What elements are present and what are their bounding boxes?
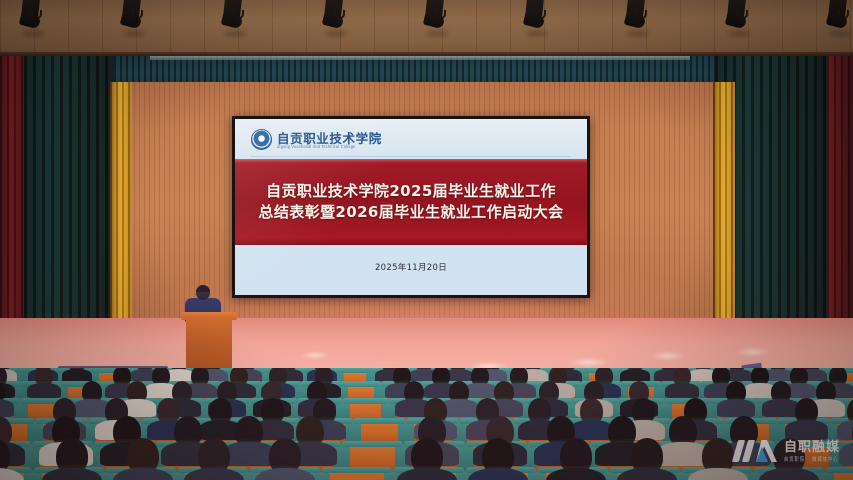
watermark-text: 自职融媒 自贡职院 · 融媒体中心 xyxy=(784,441,840,461)
audience-member xyxy=(449,381,469,403)
audience-member xyxy=(510,368,528,386)
audience-member xyxy=(191,368,209,386)
stage-light-fixture xyxy=(825,0,851,30)
audience-member xyxy=(296,416,324,447)
audience-member xyxy=(174,416,202,447)
header-divider xyxy=(251,156,571,157)
audience-member xyxy=(790,368,808,386)
curtain-rail xyxy=(150,56,690,60)
seat-headrail xyxy=(336,368,374,373)
stage-light-fixture xyxy=(623,0,649,30)
seat-headrail xyxy=(322,467,392,473)
audience-member xyxy=(35,368,53,386)
school-name-en: Zigong Vocational And Technical College xyxy=(277,144,356,149)
audience-member xyxy=(816,381,836,403)
audience-member xyxy=(795,398,818,424)
auditorium-photo: 自贡职业技术学院 Zigong Vocational And Technical… xyxy=(0,0,853,480)
floor-light-pool xyxy=(736,348,770,356)
audience-member xyxy=(702,438,734,474)
lamp-shadow xyxy=(325,30,347,37)
audience-member xyxy=(127,381,147,403)
audience-member xyxy=(157,398,180,424)
school-crest-icon xyxy=(251,129,272,150)
audience-member-shoulders xyxy=(0,399,14,416)
audience-member xyxy=(751,368,769,386)
watermark-logo-icon xyxy=(735,438,777,464)
audience-member xyxy=(729,368,745,372)
audience-member xyxy=(528,398,551,424)
led-screen-frame: 自贡职业技术学院 Zigong Vocational And Technical… xyxy=(232,116,590,298)
audience-member xyxy=(416,368,432,372)
slide-title-line-1: 自贡职业技术学院2025届毕业生就业工作 xyxy=(266,183,556,200)
broadcaster-watermark: 自职融媒 自贡职院 · 融媒体中心 xyxy=(735,436,840,466)
speaker-hair xyxy=(196,285,210,292)
stage-light-fixture xyxy=(522,0,548,30)
floor-light-pool xyxy=(300,352,330,359)
stage-light-fixture xyxy=(18,0,44,30)
slide-title-line-2: 总结表彰暨2026届毕业生就业工作启动大会 xyxy=(258,204,563,221)
audience-member xyxy=(137,368,153,372)
floor-light-pool xyxy=(568,358,610,367)
audience-member xyxy=(404,381,424,403)
audience-member xyxy=(771,381,791,403)
led-screen: 自贡职业技术学院 Zigong Vocational And Technical… xyxy=(235,119,587,295)
audience-member xyxy=(127,438,159,474)
audience-seating xyxy=(0,368,853,480)
audience-member xyxy=(632,398,655,424)
audience-member xyxy=(608,416,636,447)
lamp-shadow xyxy=(123,30,145,37)
watermark-subtitle: 自贡职院 · 融媒体中心 xyxy=(784,457,840,462)
audience-member xyxy=(235,416,263,447)
audience-member xyxy=(269,438,301,474)
stage-light-fixture xyxy=(724,0,750,30)
lamp-shadow xyxy=(728,30,750,37)
seat-headrail xyxy=(340,381,382,387)
slide-date: 2025年11月20日 xyxy=(235,261,587,273)
slide-title-banner: 自贡职业技术学院2025届毕业生就业工作 总结表彰暨2026届毕业生就业工作启动… xyxy=(235,159,587,245)
speaker-podium xyxy=(186,316,232,376)
seat-headrail xyxy=(342,441,403,447)
audience-member xyxy=(152,368,170,386)
audience-member xyxy=(471,368,489,386)
audience-member xyxy=(261,398,284,424)
lamp-shadow xyxy=(426,30,448,37)
audience-member xyxy=(113,368,131,386)
lamp-shadow xyxy=(829,30,851,37)
audience-member-shoulders xyxy=(717,399,755,416)
audience-member xyxy=(560,438,592,474)
audience-member xyxy=(198,438,230,474)
watermark-title: 自职融媒 xyxy=(784,441,840,454)
audience-member xyxy=(627,368,643,372)
audience-member xyxy=(494,381,514,403)
seat-headrail xyxy=(826,467,853,473)
audience-member-shoulders xyxy=(222,442,275,466)
floor-light-pool xyxy=(650,352,686,360)
audience-member xyxy=(669,416,697,447)
audience-member xyxy=(82,381,102,403)
stage-light-fixture xyxy=(422,0,448,30)
stage-light-fixture xyxy=(220,0,246,30)
audience-member xyxy=(726,381,746,403)
seat-headrail xyxy=(353,418,406,424)
slide-header: 自贡职业技术学院 Zigong Vocational And Technical… xyxy=(235,119,587,159)
audience-member xyxy=(450,368,466,372)
audience-member xyxy=(673,368,691,386)
audience-member xyxy=(432,368,450,386)
audience-member xyxy=(770,368,786,372)
audience-member-shoulders xyxy=(27,383,61,399)
audience-member xyxy=(56,438,88,474)
audience-member-shoulders xyxy=(665,383,699,399)
audience-member xyxy=(482,438,514,474)
audience-member xyxy=(631,438,663,474)
audience-member xyxy=(209,398,232,424)
audience-member xyxy=(712,368,730,386)
audience-member xyxy=(695,368,711,372)
audience-member xyxy=(411,438,443,474)
seat-headrail xyxy=(342,398,389,404)
lamp-shadow xyxy=(224,30,246,37)
stage-light-fixture xyxy=(119,0,145,30)
stage-light-fixture xyxy=(321,0,347,30)
audience-member xyxy=(69,368,85,372)
audience-member xyxy=(171,368,187,372)
audience-member xyxy=(580,398,603,424)
lamp-shadow xyxy=(22,30,44,37)
